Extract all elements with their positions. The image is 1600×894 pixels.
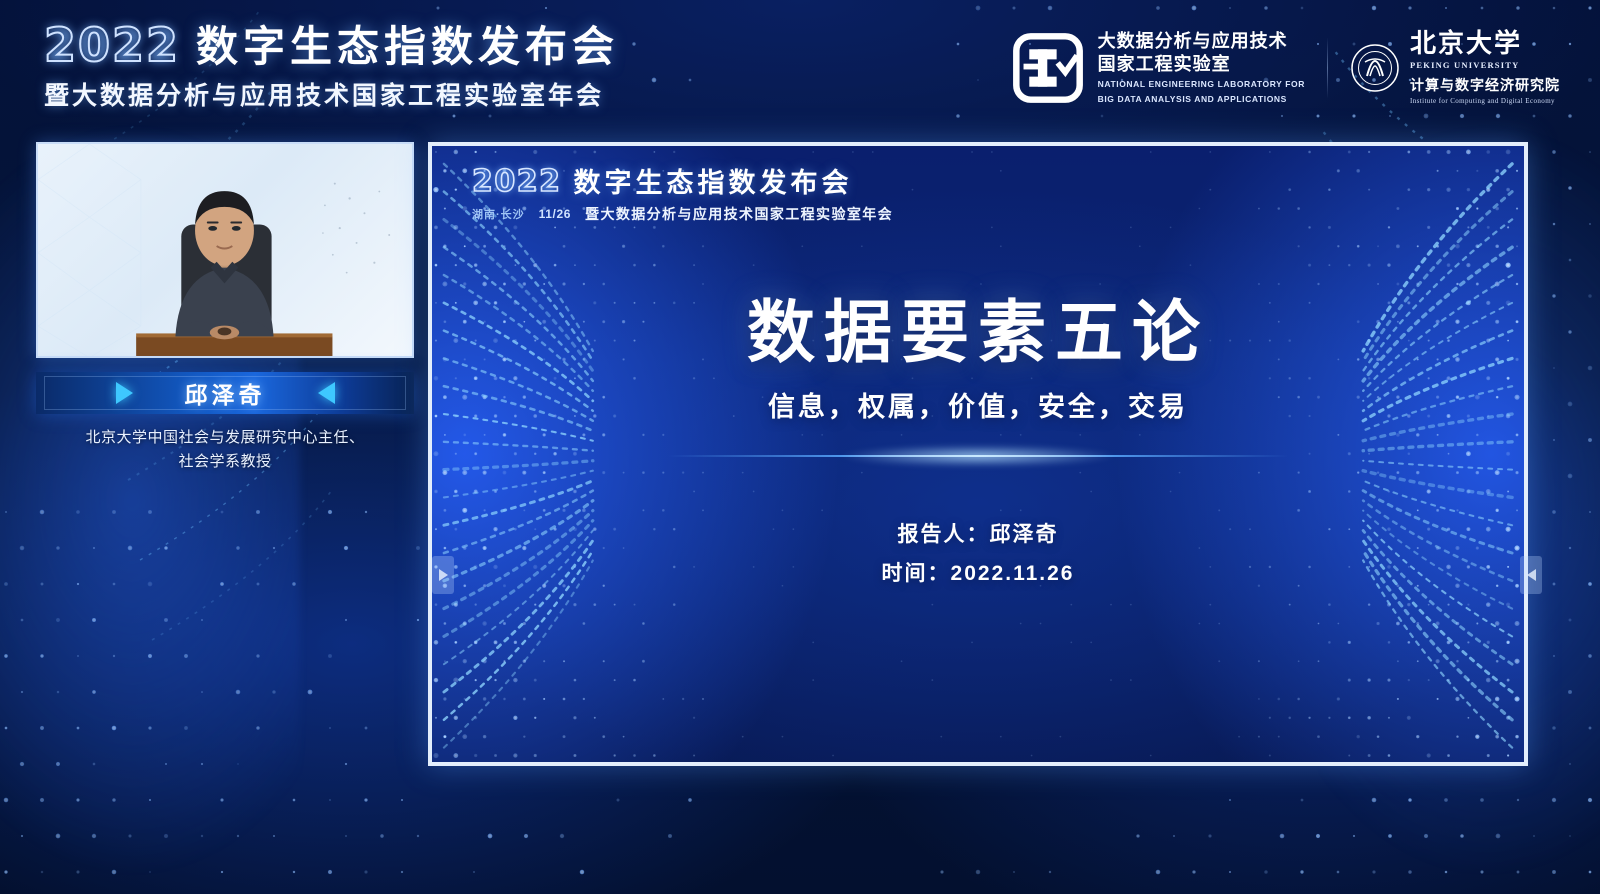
speaker-video-feed[interactable] <box>36 142 414 358</box>
speaker-panel: 邱泽奇 北京大学中国社会与发展研究中心主任、 社会学系教授 <box>36 142 414 474</box>
speaker-title: 北京大学中国社会与发展研究中心主任、 社会学系教授 <box>36 426 414 474</box>
chevron-left-icon <box>1527 569 1536 581</box>
nel-cn-line2: 国家工程实验室 <box>1098 53 1305 76</box>
pku-logo-text: 北京大学 PEKING UNIVERSITY 计算与数字经济研究院 Instit… <box>1410 31 1560 105</box>
speaker-title-line1: 北京大学中国社会与发展研究中心主任、 <box>36 426 414 450</box>
nel-en-line1: NATIONAL ENGINEERING LABORATORY FOR <box>1098 79 1305 90</box>
pku-en-name: PEKING UNIVERSITY <box>1410 60 1560 70</box>
slide-glow-divider <box>668 450 1288 462</box>
header-sub-title: 暨大数据分析与应用技术国家工程实验室年会 <box>44 76 619 112</box>
next-slide-button[interactable] <box>1520 556 1542 594</box>
page-header: 2022 数字生态指数发布会 暨大数据分析与应用技术国家工程实验室年会 大数据分… <box>0 0 1600 130</box>
nel-cn-line1: 大数据分析与应用技术 <box>1098 30 1305 53</box>
header-title-block: 2022 数字生态指数发布会 暨大数据分析与应用技术国家工程实验室年会 <box>44 24 619 112</box>
slide-content: 数据要素五论 信息，权属，价值，安全，交易 报告人：邱泽奇 时间：2022.11… <box>432 296 1524 593</box>
speaker-title-line2: 社会学系教授 <box>36 450 414 474</box>
nel-logo-text: 大数据分析与应用技术 国家工程实验室 NATIONAL ENGINEERING … <box>1098 30 1305 106</box>
chevron-right-icon <box>439 569 448 581</box>
nel-logo-icon <box>1012 32 1084 104</box>
header-logos: 大数据分析与应用技术 国家工程实验室 NATIONAL ENGINEERING … <box>1012 30 1560 106</box>
slide-header-date: 11/26 <box>539 207 571 221</box>
speaker-silhouette <box>38 144 409 356</box>
slide-header: 2022 数字生态指数发布会 湖南·长沙 11/26 暨大数据分析与应用技术国家… <box>472 168 893 224</box>
triangle-left-icon <box>318 382 335 404</box>
presentation-slide: 2022 数字生态指数发布会 湖南·长沙 11/26 暨大数据分析与应用技术国家… <box>432 146 1524 762</box>
slide-meta: 报告人：邱泽奇 时间：2022.11.26 <box>432 516 1524 594</box>
slide-header-place: 湖南·长沙 <box>472 206 525 222</box>
slide-header-subtitle: 暨大数据分析与应用技术国家工程实验室年会 <box>585 204 893 224</box>
logo-divider <box>1327 37 1328 99</box>
nel-en-line2: BIG DATA ANALYSIS AND APPLICATIONS <box>1098 94 1305 105</box>
slide-presenter: 报告人：邱泽奇 <box>432 516 1524 555</box>
pku-logo: 北京大学 PEKING UNIVERSITY 计算与数字经济研究院 Instit… <box>1350 31 1560 105</box>
speaker-name-banner: 邱泽奇 <box>36 372 414 414</box>
slide-time: 时间：2022.11.26 <box>432 555 1524 594</box>
prev-slide-button[interactable] <box>432 556 454 594</box>
nel-logo: 大数据分析与应用技术 国家工程实验室 NATIONAL ENGINEERING … <box>1012 30 1305 106</box>
slide-year-logo: 2022 <box>472 168 562 197</box>
pku-cn-name: 北京大学 <box>1410 31 1560 57</box>
presentation-slide-frame[interactable]: 2022 数字生态指数发布会 湖南·长沙 11/26 暨大数据分析与应用技术国家… <box>428 142 1528 766</box>
pku-institute-cn: 计算与数字经济研究院 <box>1410 75 1560 95</box>
app-background: 2022 数字生态指数发布会 暨大数据分析与应用技术国家工程实验室年会 大数据分… <box>0 0 1600 894</box>
triangle-right-icon <box>116 382 133 404</box>
slide-title: 数据要素五论 <box>432 296 1524 371</box>
slide-header-title: 数字生态指数发布会 <box>574 170 853 197</box>
header-main-title: 数字生态指数发布会 <box>196 26 619 68</box>
pku-institute-en: Institute for Computing and Digital Econ… <box>1410 97 1560 105</box>
peking-university-seal-icon <box>1350 43 1400 93</box>
header-year-logo: 2022 <box>44 24 180 68</box>
slide-subtitle: 信息，权属，价值，安全，交易 <box>432 385 1524 424</box>
speaker-name: 邱泽奇 <box>185 376 266 410</box>
